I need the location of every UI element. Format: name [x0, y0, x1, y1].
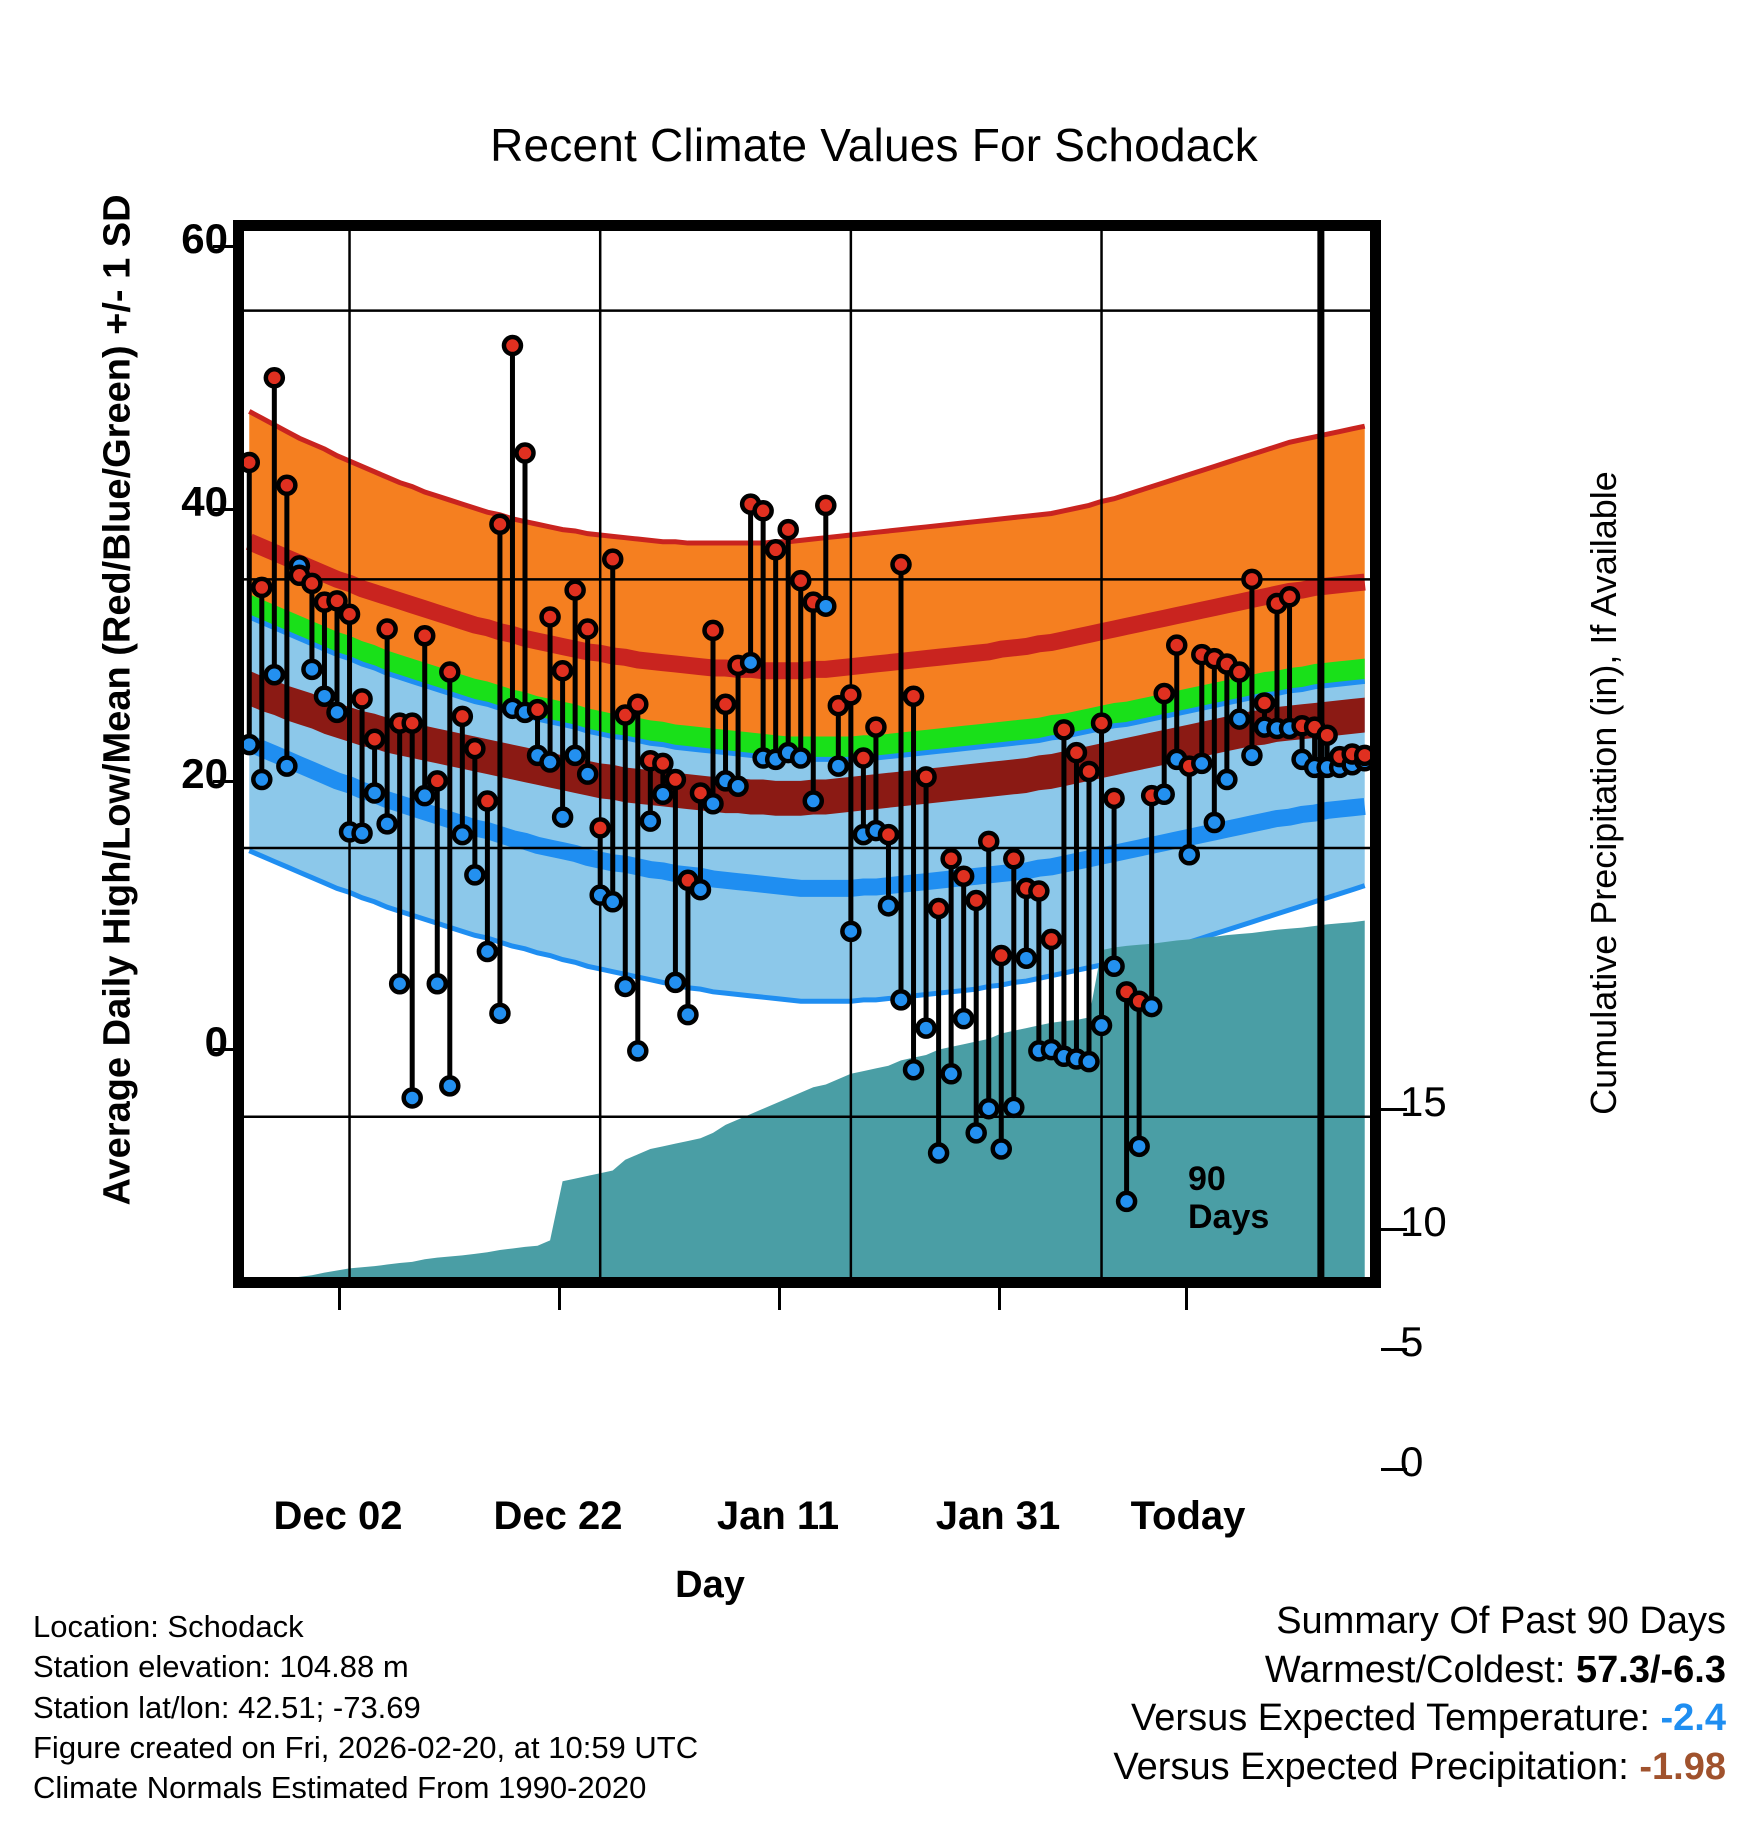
- y-tick-left-60: 60: [28, 215, 228, 263]
- precip-label: Versus Expected Precipitation:: [1113, 1746, 1628, 1788]
- x-tick-dec-02: Dec 02: [218, 1494, 458, 1539]
- climate-chart-page: Recent Climate Values For Schodack Avera…: [0, 0, 1748, 1828]
- x-tickmark-dec-22: [558, 1288, 561, 1310]
- y-tickmark-right-10: [1381, 1228, 1407, 1231]
- y-tick-right-0: 0: [1400, 1438, 1520, 1486]
- y-tick-right-5: 5: [1400, 1318, 1520, 1366]
- x-tick-dec-22: Dec 22: [438, 1494, 678, 1539]
- warmest-coldest-label: Warmest/Coldest:: [1265, 1649, 1566, 1691]
- x-tickmark-jan-31: [998, 1288, 1001, 1310]
- y-tickmark-left-0: [213, 1048, 235, 1051]
- y-tickmark-right-15: [1381, 1108, 1407, 1111]
- summary-heading: Summary Of Past 90 Days: [1113, 1597, 1726, 1646]
- temp-label: Versus Expected Temperature:: [1131, 1697, 1650, 1739]
- ninety-days-line1: 90: [1188, 1160, 1269, 1198]
- info-location: Location: Schodack: [33, 1607, 698, 1647]
- y-tickmark-right-5: [1381, 1348, 1407, 1351]
- temp-value: -2.4: [1661, 1697, 1726, 1739]
- station-info-block: Location: Schodack Station elevation: 10…: [33, 1607, 698, 1808]
- y-tick-left-40: 40: [28, 478, 228, 526]
- info-elevation: Station elevation: 104.88 m: [33, 1647, 698, 1687]
- ninety-days-line2: Days: [1188, 1198, 1269, 1236]
- climate-plot: [243, 230, 1371, 1278]
- warmest-coldest-value: 57.3/-6.3: [1576, 1649, 1726, 1691]
- x-tickmark-today: [1185, 1288, 1188, 1310]
- ninety-days-annotation: 90 Days: [1188, 1160, 1269, 1236]
- info-created: Figure created on Fri, 2026-02-20, at 10…: [33, 1728, 698, 1768]
- x-tickmark-jan-11: [778, 1288, 781, 1310]
- x-tickmark-dec-02: [338, 1288, 341, 1310]
- summary-warmest-coldest: Warmest/Coldest: 57.3/-6.3: [1113, 1646, 1726, 1695]
- x-tick-today: Today: [1068, 1494, 1308, 1539]
- y-tick-right-15: 15: [1400, 1078, 1520, 1126]
- info-normals: Climate Normals Estimated From 1990-2020: [33, 1768, 698, 1808]
- y-tick-right-10: 10: [1400, 1198, 1520, 1246]
- y-tick-left-20: 20: [28, 750, 228, 798]
- y-tickmark-left-60: [213, 245, 235, 248]
- y-axis-right-label: Cumulative Precipitation (in), If Availa…: [1583, 353, 1625, 1233]
- x-tick-jan-11: Jan 11: [658, 1494, 898, 1539]
- summary-block: Summary Of Past 90 Days Warmest/Coldest:…: [1113, 1597, 1726, 1792]
- y-tickmark-left-20: [213, 780, 235, 783]
- page-title: Recent Climate Values For Schodack: [0, 118, 1748, 172]
- y-tickmark-right-0: [1381, 1468, 1407, 1471]
- precip-value: -1.98: [1639, 1746, 1726, 1788]
- summary-temperature: Versus Expected Temperature: -2.4: [1113, 1694, 1726, 1743]
- info-latlon: Station lat/lon: 42.51; -73.69: [33, 1688, 698, 1728]
- y-tick-left-0: 0: [28, 1018, 228, 1066]
- summary-precipitation: Versus Expected Precipitation: -1.98: [1113, 1743, 1726, 1792]
- y-tickmark-left-40: [213, 508, 235, 511]
